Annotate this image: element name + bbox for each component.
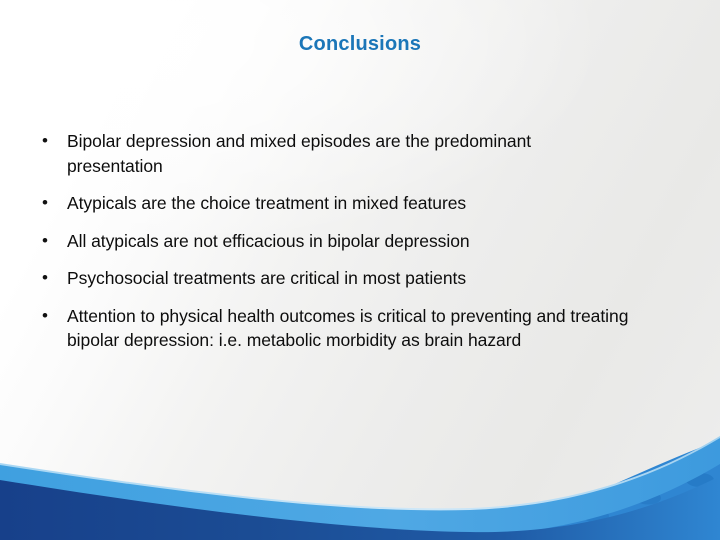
bullet-point-icon: • xyxy=(40,304,67,329)
list-item: • Atypicals are the choice treatment in … xyxy=(40,191,688,216)
bullet-point-icon: • xyxy=(40,229,67,254)
bullet-list: • Bipolar depression and mixed episodes … xyxy=(40,129,688,353)
list-item: • Bipolar depression and mixed episodes … xyxy=(40,129,688,178)
list-item: • Psychosocial treatments are critical i… xyxy=(40,266,688,291)
decorative-wave-graphic xyxy=(0,420,720,540)
list-item-label: Psychosocial treatments are critical in … xyxy=(67,266,688,291)
list-item-label: Bipolar depression and mixed episodes ar… xyxy=(67,129,587,178)
bullet-point-icon: • xyxy=(40,129,67,154)
list-item: • All atypicals are not efficacious in b… xyxy=(40,229,688,254)
list-item-label: Atypicals are the choice treatment in mi… xyxy=(67,191,688,216)
page-title: Conclusions xyxy=(0,33,720,56)
list-item-label: All atypicals are not efficacious in bip… xyxy=(67,229,688,254)
list-item: • Attention to physical health outcomes … xyxy=(40,304,688,353)
bullet-point-icon: • xyxy=(40,266,67,291)
slide-canvas: Conclusions • Bipolar depression and mix… xyxy=(0,0,720,540)
bullet-point-icon: • xyxy=(40,191,67,216)
list-item-label: Attention to physical health outcomes is… xyxy=(67,304,667,353)
